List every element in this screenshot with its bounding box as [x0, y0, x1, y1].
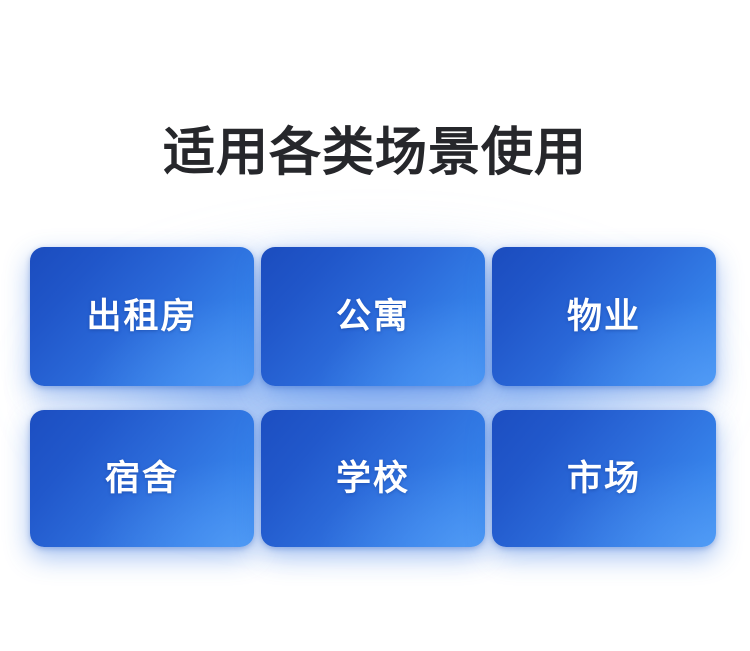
scene-card-market[interactable]: 市场 — [492, 410, 716, 547]
scene-card-dormitory[interactable]: 宿舍 — [30, 410, 254, 547]
scene-card-label: 物业 — [567, 299, 641, 334]
scene-card-grid: 出租房 公寓 物业 宿舍 学校 市场 — [30, 247, 716, 547]
scene-card-school[interactable]: 学校 — [261, 410, 485, 547]
scene-card-rental-house[interactable]: 出租房 — [30, 247, 254, 386]
scene-card-label: 学校 — [336, 461, 410, 496]
scene-card-apartment[interactable]: 公寓 — [261, 247, 485, 386]
scene-card-label: 公寓 — [336, 299, 410, 334]
scene-card-label: 出租房 — [86, 299, 197, 334]
scene-card-property[interactable]: 物业 — [492, 247, 716, 386]
scene-card-label: 市场 — [567, 461, 641, 496]
scene-showcase-page: 适用各类场景使用 出租房 公寓 物业 宿舍 学校 市场 — [0, 0, 750, 651]
page-title: 适用各类场景使用 — [163, 121, 587, 185]
page-title-container: 适用各类场景使用 — [0, 86, 750, 220]
scene-card-label: 宿舍 — [105, 461, 179, 496]
